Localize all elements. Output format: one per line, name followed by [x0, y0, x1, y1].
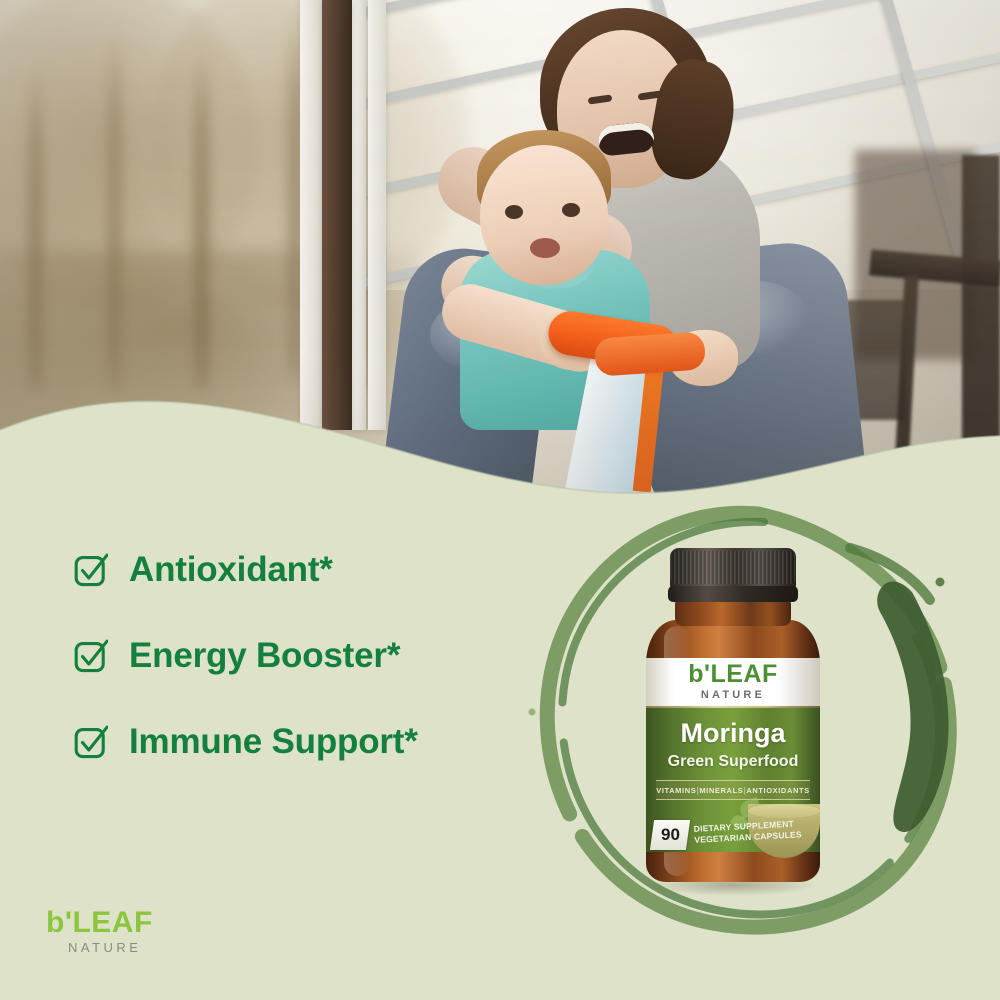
benefit-item-immune-support: Immune Support*	[74, 699, 504, 785]
bottle-cap-band	[668, 586, 798, 602]
benefit-label: Antioxidant*	[129, 550, 333, 590]
capsule-count-badge: 90	[650, 820, 690, 850]
benefits-list: Antioxidant* Energy Booster* Immune Supp…	[74, 527, 504, 785]
hero-photo	[0, 0, 1000, 500]
checkbox-check-icon	[74, 725, 108, 759]
label-brand-name: b'LEAF	[688, 662, 778, 687]
footer-logo-sub: NATURE	[68, 940, 266, 955]
label-tag-antioxidants: ANTIOXIDANTS	[746, 786, 809, 795]
checkbox-check-icon	[74, 639, 108, 673]
benefit-item-energy-booster: Energy Booster*	[74, 613, 504, 699]
footer-logo-word: b'LEAF	[46, 908, 153, 938]
supplement-bottle: b'LEAF NATURE Moringa Green Superfood VI…	[628, 548, 838, 888]
bottle-neck	[675, 600, 791, 626]
label-tag-vitamins: VITAMINS	[656, 786, 696, 795]
benefit-label: Energy Booster*	[129, 636, 400, 676]
product-marketing-image: Antioxidant* Energy Booster* Immune Supp…	[0, 0, 1000, 1000]
label-tag-minerals: MINERALS	[699, 786, 743, 795]
label-brand-logo: b'LEAF NATURE	[628, 662, 838, 701]
product-shot: b'LEAF NATURE Moringa Green Superfood VI…	[520, 500, 970, 940]
benefit-label: Immune Support*	[129, 722, 418, 762]
footer-brand-logo: b'LEAF NATURE	[46, 908, 266, 955]
capsule-count: 90	[661, 825, 680, 845]
label-product-name: Moringa	[628, 720, 838, 747]
bottle-cap-ridges	[670, 551, 796, 584]
benefit-item-antioxidant: Antioxidant*	[74, 527, 504, 613]
label-product-subtitle: Green Superfood	[628, 753, 838, 771]
label-brand-sub: NATURE	[628, 689, 838, 701]
photo-vignette	[0, 0, 1000, 500]
label-tag-band: VITAMINS | MINERALS | ANTIOXIDANTS	[656, 780, 810, 800]
checkbox-check-icon	[74, 553, 108, 587]
